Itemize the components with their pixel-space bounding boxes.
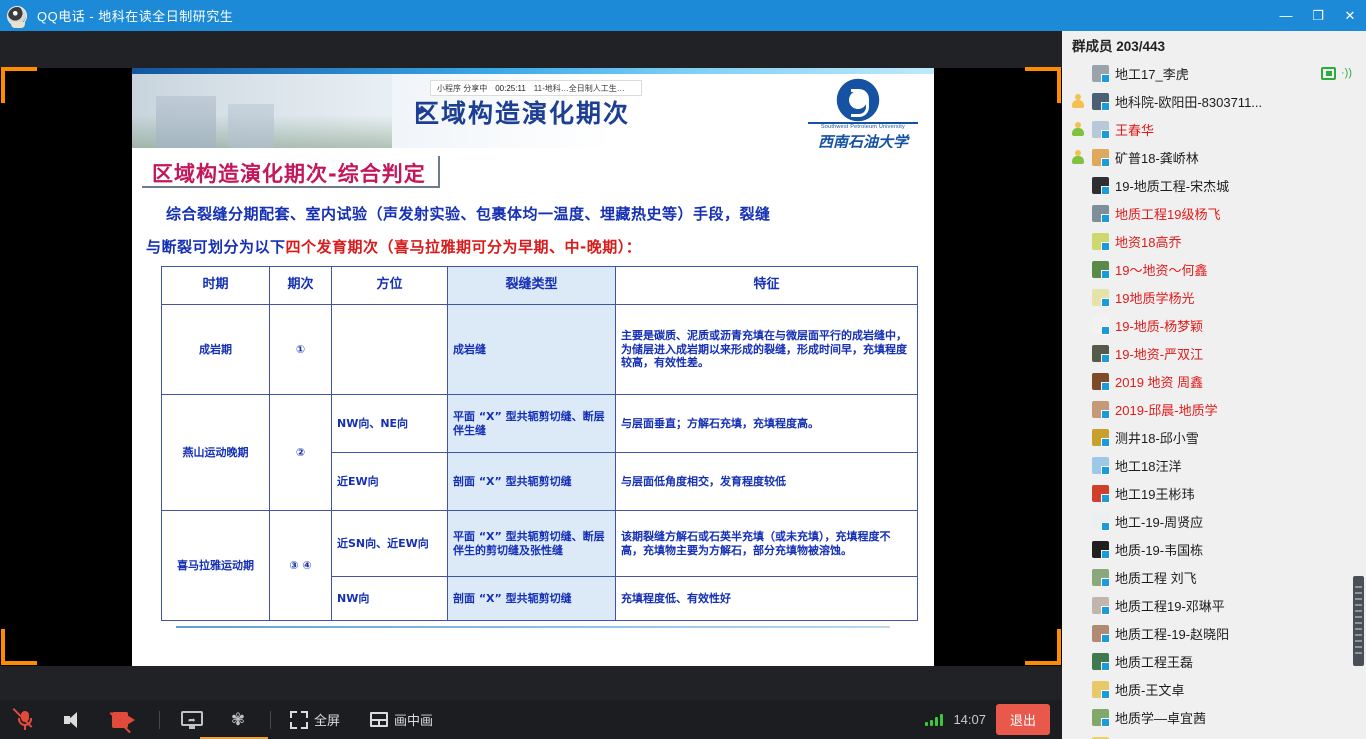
member-list-item[interactable]: 19-地质工程-宋杰城 [1062,171,1366,199]
avatar [1092,681,1109,698]
cell-fracture-type: 剖面 “X” 型共轭剪切缝 [448,577,616,621]
table-header-row: 时期 期次 方位 裂缝类型 特征 [162,267,918,305]
cell-direction: NW向、NE向 [332,395,448,453]
toolbar-right-group: 14:07 退出 [925,704,1062,735]
avatar [1092,429,1109,446]
th-fracture-type: 裂缝类型 [448,267,616,305]
avatar [1092,317,1109,334]
table-row: 燕山运动晚期 ② NW向、NE向 平面 “X” 型共轭剪切缝、断层伴生缝 与层面… [162,395,918,453]
camera-muted-icon [112,712,136,728]
slide-subtitle-main: 区域构造演化期次 [152,162,328,186]
member-panel-header: 群成员 203/443 [1062,31,1366,59]
avatar [1092,233,1109,250]
member-list-scrollbar[interactable] [1353,576,1364,666]
member-list-item[interactable]: 地资—18-杨苗 [1062,731,1366,739]
cell-feature: 该期裂缝方解石或石英半充填（或未充填），充填程度不高，充填物主要为方解石，部分充… [616,511,918,577]
avatar [1092,65,1109,82]
call-toolbar: ➦ ✾ 全屏 画中画 14:07 退出 [0,700,1062,739]
member-name: 19地质学杨光 [1115,288,1194,307]
window-title: QQ电话 - 地科在读全日制研究生 [37,6,233,25]
member-name: 矿普18-龚峤林 [1115,148,1199,167]
cell-stage: ① [270,305,332,395]
close-button[interactable]: ✕ [1334,0,1366,31]
cell-period: 燕山运动晚期 [162,395,270,511]
avatar [1092,653,1109,670]
th-feature: 特征 [616,267,918,305]
avatar [1092,373,1109,390]
member-list-item[interactable]: 地质工程19-邓琳平 [1062,591,1366,619]
avatar [1092,569,1109,586]
th-stage: 期次 [270,267,332,305]
table-row: 成岩期 ① 成岩缝 主要是碳质、泥质或沥青充填在与微层面平行的成岩缝中，为储层进… [162,305,918,395]
member-list-item[interactable]: 地质工程王磊 [1062,647,1366,675]
member-list-item[interactable]: 地工18汪洋 [1062,451,1366,479]
member-name: 地资18高乔 [1115,232,1181,251]
slide-paragraph-1: 综合裂缝分期配套、室内试验（声发射实验、包裹体均一温度、埋藏热史等）手段，裂缝 [166,203,912,224]
cell-period: 成岩期 [162,305,270,395]
member-role-icon [1070,93,1086,109]
member-list-item[interactable]: 地工19王彬玮 [1062,479,1366,507]
camera-toggle-button[interactable] [98,700,150,739]
member-name: 地质工程-19-赵晓阳 [1115,624,1229,643]
cell-feature: 主要是碳质、泥质或沥青充填在与微层面平行的成岩缝中，为储层进入成岩期以来形成的裂… [616,305,918,395]
slide-banner-title: 区域构造演化期次 [414,94,630,130]
avatar [1092,177,1109,194]
member-list-item[interactable]: 地工17_李虎·)) [1062,59,1366,87]
cell-stage: ② [270,395,332,511]
cell-feature: 充填程度低、有效性好 [616,577,918,621]
restore-button[interactable]: ❐ [1302,0,1334,31]
member-name: 王春华 [1115,120,1154,139]
cell-fracture-type: 成岩缝 [448,305,616,395]
video-stage: ➤ 区域构造演化期次 Southwest Petroleum Universit… [0,31,1062,700]
member-list-item[interactable]: 19～地资～何鑫 [1062,255,1366,283]
speaker-toggle-button[interactable] [50,700,98,739]
focus-bracket-top-right [1025,67,1061,103]
member-list-item[interactable]: 地质-王文卓 [1062,675,1366,703]
cell-fracture-type: 平面 “X” 型共轭剪切缝、断层伴生的剪切缝及张性缝 [448,511,616,577]
member-name: 地质工程19-邓琳平 [1115,596,1225,615]
paragraph-2-prefix: 与断裂可划分为以下 [146,238,286,256]
member-name: 地科院-欧阳田-8303711... [1115,92,1262,111]
member-list-item[interactable]: 王春华 [1062,115,1366,143]
signal-strength-icon [925,713,943,726]
member-panel: 群成员 203/443 地工17_李虎·))地科院-欧阳田-8303711...… [1062,31,1366,739]
member-list-item[interactable]: 地质工程19级杨飞 [1062,199,1366,227]
member-list[interactable]: 地工17_李虎·))地科院-欧阳田-8303711...王春华矿普18-龚峤林1… [1062,59,1366,739]
member-list-item[interactable]: 19-地质-杨梦颖 [1062,311,1366,339]
member-list-item[interactable]: 地科院-欧阳田-8303711... [1062,87,1366,115]
share-screen-icon: ➦ [181,711,203,729]
member-name: 地工19王彬玮 [1115,484,1194,503]
member-name: 2019-邱晨-地质学 [1115,400,1218,419]
member-name: 2019 地资 周鑫 [1115,372,1203,391]
qq-logo-icon [7,6,27,26]
exit-button[interactable]: 退出 [996,704,1050,735]
fullscreen-icon [290,711,308,729]
member-list-item[interactable]: 2019 地资 周鑫 [1062,367,1366,395]
fullscreen-label: 全屏 [314,710,340,729]
member-list-item[interactable]: 地工-19-周贤应 [1062,507,1366,535]
title-bar: QQ电话 - 地科在读全日制研究生 — ❐ ✕ [0,0,1366,31]
member-name: 地质工程19级杨飞 [1115,204,1220,223]
avatar [1092,625,1109,642]
timer-left-label: 小程序 分享中 [437,83,487,94]
university-logo: Southwest Petroleum University 西南石油大学 [804,76,922,148]
slide-paragraph-2: 与断裂可划分为以下四个发育期次（喜马拉雅期可分为早期、中-晚期）： [146,236,892,257]
avatar [1092,457,1109,474]
th-direction: 方位 [332,267,448,305]
cell-fracture-type: 平面 “X” 型共轭剪切缝、断层伴生缝 [448,395,616,453]
slide-subtitle-tail: -综合判定 [328,162,426,186]
pip-label: 画中画 [394,710,433,729]
focus-bracket-bottom-right [1025,629,1061,665]
member-name: 地工17_李虎 [1115,64,1189,83]
member-list-item[interactable]: 矿普18-龚峤林 [1062,143,1366,171]
avatar [1092,401,1109,418]
avatar [1092,513,1109,530]
avatar [1092,121,1109,138]
minimize-button[interactable]: — [1270,0,1302,31]
toolbar-divider-2 [270,711,271,729]
campus-photo [132,74,392,148]
member-name: 19-地质工程-宋杰城 [1115,176,1229,195]
avatar [1092,485,1109,502]
member-name: 19～地资～何鑫 [1115,260,1207,279]
cell-direction [332,305,448,395]
fullscreen-button[interactable]: 全屏 [280,700,350,739]
paragraph-2-highlight: 四个发育期次（喜马拉雅期可分为早期、中-晚期）： [286,238,642,256]
timer-value: 00:25:11 [495,84,526,93]
cell-stage: ③ ④ [270,511,332,621]
university-name-en: Southwest Petroleum University [804,124,922,130]
member-name: 地资—18-杨苗 [1115,736,1199,739]
member-name: 地工18汪洋 [1115,456,1181,475]
slide-banner: ➤ 区域构造演化期次 Southwest Petroleum Universit… [132,74,934,148]
cell-direction: NW向 [332,577,448,621]
avatar [1092,205,1109,222]
picture-in-picture-icon [370,712,388,727]
window-controls: — ❐ ✕ [1270,0,1366,31]
toolbar-divider [159,711,160,729]
slide-bottom-rule [176,626,890,628]
member-list-item[interactable]: 地资18高乔 [1062,227,1366,255]
qq-call-window: QQ电话 - 地科在读全日制研究生 — ❐ ✕ ➤ 区域构造演化期次 South… [0,0,1366,739]
fracture-stages-table: 时期 期次 方位 裂缝类型 特征 成岩期 ① 成岩缝 [161,266,918,621]
speaking-icon: ·)) [1341,68,1352,79]
focus-bracket-bottom-left [1,629,37,665]
avatar [1092,597,1109,614]
member-list-item[interactable]: 地质学—卓宜茜 [1062,703,1366,731]
member-role-icon [1070,149,1086,165]
mic-toggle-button[interactable] [0,700,50,739]
member-list-item[interactable]: 测井18-邱小雪 [1062,423,1366,451]
presentation-slide: ➤ 区域构造演化期次 Southwest Petroleum Universit… [132,68,934,666]
member-list-item[interactable]: 19-地资-严双江 [1062,339,1366,367]
shared-screen-video[interactable]: ➤ 区域构造演化期次 Southwest Petroleum Universit… [0,68,1062,666]
member-list-item[interactable]: 2019-邱晨-地质学 [1062,395,1366,423]
slide-subtitle-box: 区域构造演化期次-综合判定 [142,156,440,188]
speaker-icon [64,711,84,729]
member-name: 测井18-邱小雪 [1115,428,1199,447]
avatar [1092,709,1109,726]
timer-right-label: 11-地科…全日制人工生… [534,83,625,94]
clock-label: 14:07 [953,712,986,727]
avatar [1092,345,1109,362]
pip-button[interactable]: 画中画 [360,700,443,739]
cell-fracture-type: 剖面 “X” 型共轭剪切缝 [448,453,616,511]
member-name: 地质学—卓宜茜 [1115,708,1206,727]
cell-direction: 近SN向、近EW向 [332,511,448,577]
member-role-icon [1070,121,1086,137]
avatar [1092,541,1109,558]
share-timer-overlay: 小程序 分享中 00:25:11 11-地科…全日制人工生… [430,80,642,96]
table-row: 喜马拉雅运动期 ③ ④ 近SN向、近EW向 平面 “X” 型共轭剪切缝、断层伴生… [162,511,918,577]
avatar [1092,289,1109,306]
member-name: 19-地资-严双江 [1115,344,1203,363]
member-name: 地质-王文卓 [1115,680,1184,699]
member-list-item[interactable]: 19地质学杨光 [1062,283,1366,311]
member-name: 地质工程王磊 [1115,652,1193,671]
university-badge-icon [834,76,882,124]
member-name: 地质-19-韦国栋 [1115,540,1203,559]
member-list-item[interactable]: 地质工程-19-赵晓阳 [1062,619,1366,647]
share-screen-button[interactable]: ➦ [169,700,215,739]
cell-direction: 近EW向 [332,453,448,511]
member-list-item[interactable]: 地质工程 刘飞 [1062,563,1366,591]
member-list-item[interactable]: 地质-19-韦国栋 [1062,535,1366,563]
focus-bracket-top-left [1,67,37,103]
whiteboard-icon: ✾ [227,710,249,730]
avatar [1092,149,1109,166]
avatar [1092,93,1109,110]
member-status-badges: ·)) [1321,67,1366,80]
member-name: 地工-19-周贤应 [1115,512,1203,531]
th-period: 时期 [162,267,270,305]
university-name-cn: 西南石油大学 [804,131,922,148]
cell-feature: 与层面低角度相交，发育程度较低 [616,453,918,511]
microphone-muted-icon [16,709,34,731]
screen-sharing-icon [1321,67,1336,80]
cell-feature: 与层面垂直；方解石充填，充填程度高。 [616,395,918,453]
whiteboard-button[interactable]: ✾ [215,700,261,739]
member-name: 地质工程 刘飞 [1115,568,1197,587]
cell-period: 喜马拉雅运动期 [162,511,270,621]
avatar [1092,261,1109,278]
member-name: 19-地质-杨梦颖 [1115,316,1203,335]
